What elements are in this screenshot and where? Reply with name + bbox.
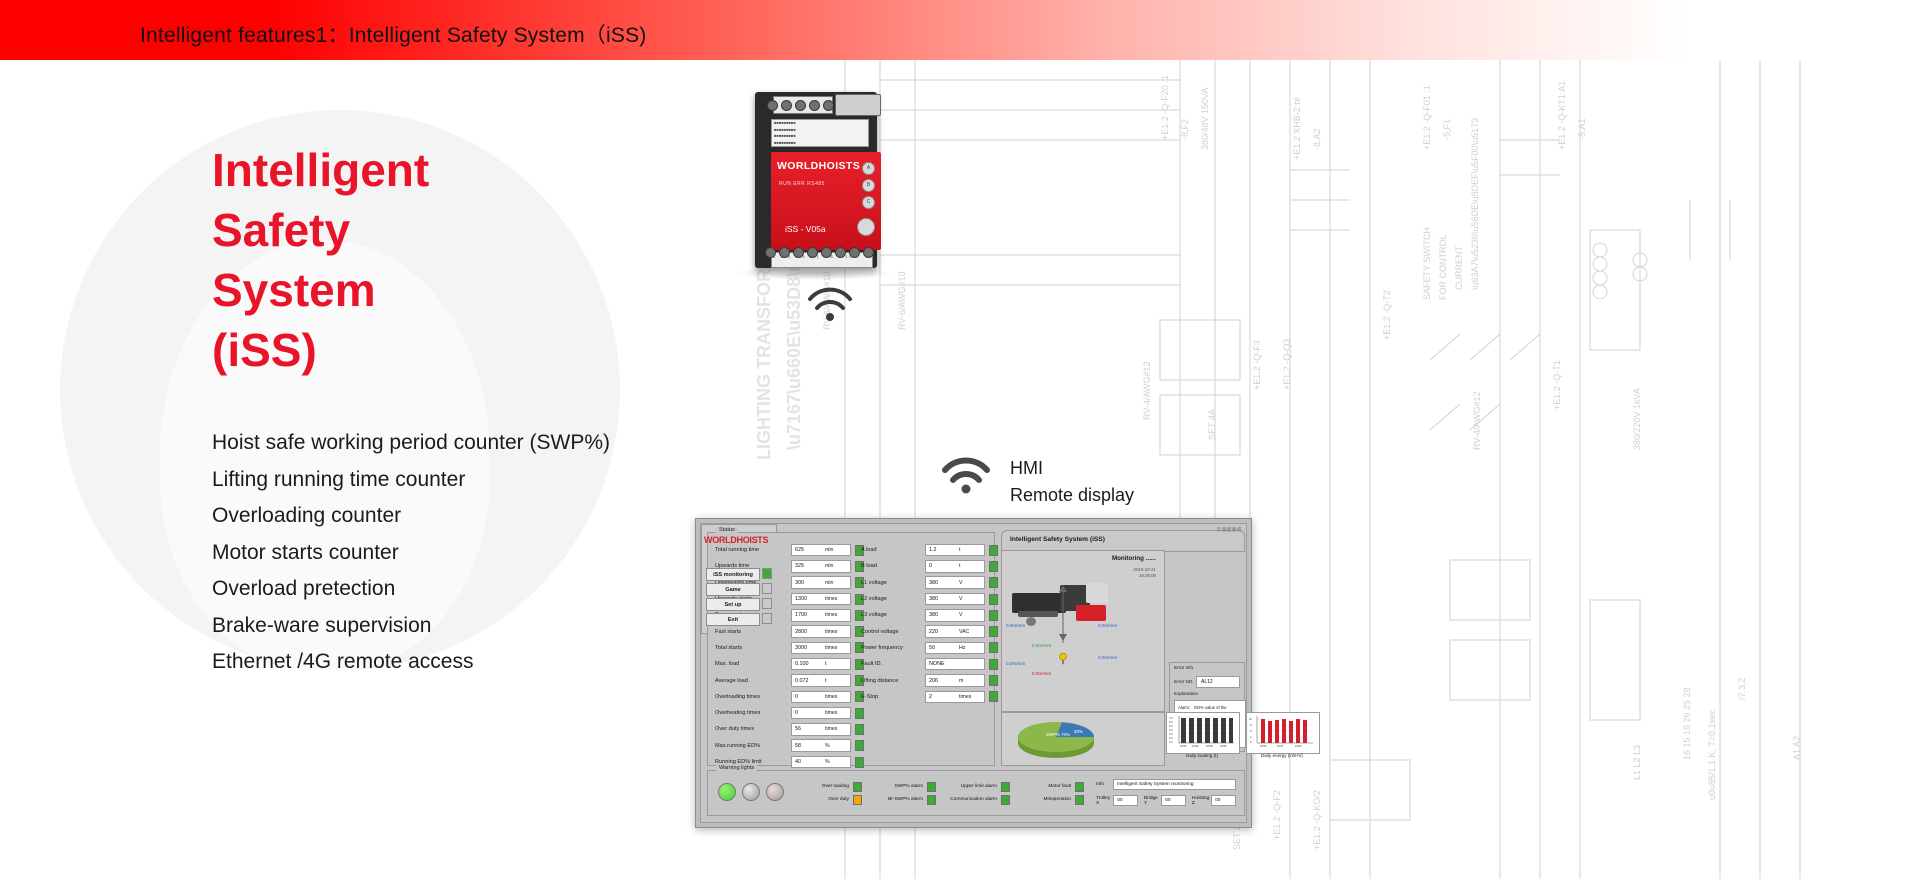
warning-indicator-led — [1001, 795, 1010, 805]
svg-text:/7.3,2: /7.3,2 — [1737, 677, 1747, 700]
monitoring-time: 18:35:06 — [1134, 573, 1156, 579]
status-row-field[interactable]: 1300times — [791, 593, 851, 606]
svg-text:10/20: 10/20 — [1295, 744, 1302, 748]
status-row-label: Fault ID. — [858, 661, 925, 667]
status-row-value: 380 — [926, 612, 959, 618]
status-row-value: 220 — [926, 629, 959, 635]
status-row-field[interactable]: 380V — [925, 576, 985, 589]
warning-indicator-led — [1075, 782, 1084, 792]
warning-indicator-label: Misoperation — [1044, 797, 1071, 802]
status-row-label: Overheating times — [712, 710, 791, 716]
svg-text:2: 2 — [1250, 740, 1252, 744]
hoisting-z-value[interactable]: 00 — [1211, 795, 1236, 806]
status-row: L2 voltage380V — [858, 591, 998, 607]
status-row-unit: % — [825, 743, 830, 749]
svg-text:L1 L2 L3: L1 L2 L3 — [1632, 745, 1642, 780]
status-row-led — [989, 545, 998, 556]
status-row-unit: times — [959, 694, 971, 700]
device-knob-b[interactable]: B — [862, 179, 875, 192]
status-right-column: A load1.2tB load0tL1 voltage380VL2 volta… — [858, 542, 998, 705]
iss-monitoring-led — [762, 568, 772, 579]
svg-text:-5,A1: -5,A1 — [1577, 118, 1587, 140]
status-row-unit: V — [959, 596, 962, 602]
hmi-window-title-tab: Intelligent Safety System (iSS) — [1001, 530, 1245, 552]
status-row-field[interactable]: 2times — [925, 691, 985, 704]
svg-text:10/14: 10/14 — [1260, 744, 1267, 748]
info-value[interactable]: Intelligent Safety System monitoring — [1113, 779, 1236, 790]
status-row: Power frequency50Hz — [858, 640, 998, 656]
svg-text:\u63A7\u5236\u56DE\u8DEF\u5F00: \u63A7\u5236\u56DE\u8DEF\u5F00\u5173 — [1470, 118, 1480, 290]
device-wifi-icon — [805, 285, 855, 323]
status-row-field[interactable]: 40% — [791, 756, 851, 769]
svg-text:10/14: 10/14 — [1180, 744, 1187, 748]
warning-indicator: Over loading — [794, 780, 868, 793]
speed-right-label: 0.0m/mm — [1098, 655, 1117, 660]
status-row: A load1.2t — [858, 542, 998, 558]
set-up-button[interactable]: Set up — [706, 598, 760, 611]
status-row-label: Lifting distance — [858, 678, 925, 684]
warning-indicator-led — [1001, 782, 1010, 792]
status-row-field[interactable]: 300min — [791, 576, 851, 589]
status-row-value: 50 — [926, 645, 959, 651]
status-row-field[interactable]: 1700times — [791, 609, 851, 622]
feature-item: Overload pretection — [212, 571, 610, 608]
status-row-led — [989, 626, 998, 637]
status-row-value: 1.2 — [926, 547, 959, 553]
warning-indicator-label: Upper limit alarm — [961, 784, 997, 789]
status-row-field[interactable]: 2800times — [791, 625, 851, 638]
svg-text:3.0: 3.0 — [1169, 732, 1173, 736]
svg-text:10/17: 10/17 — [1277, 744, 1284, 748]
status-row: Overheating times0times — [712, 705, 864, 721]
device-body: ■■■■■■■■■ ■■■■■■■■■ ■■■■■■■■■ ■■■■■■■■■ … — [755, 92, 877, 268]
status-row: Lifting distance206m — [858, 672, 998, 688]
svg-text:u0u85/1,1 K, T=0,1sec: u0u85/1,1 K, T=0,1sec — [1707, 709, 1717, 800]
status-row-unit: min — [825, 580, 833, 586]
device-spec-label: ■■■■■■■■■ ■■■■■■■■■ ■■■■■■■■■ ■■■■■■■■■ — [771, 119, 869, 147]
monitoring-title: Monitoring ...... — [1112, 555, 1156, 562]
svg-text:7.0: 7.0 — [1169, 716, 1173, 720]
status-row-value: 40 — [792, 759, 825, 765]
status-row-field[interactable]: 1.2t — [925, 544, 985, 557]
svg-text:2.0: 2.0 — [1169, 736, 1173, 740]
status-row-led — [989, 659, 998, 670]
device-brand-label: WORLDHOISTS — [777, 160, 860, 172]
hmi-wifi-icon — [940, 455, 992, 495]
svg-text:6.0: 6.0 — [1169, 720, 1173, 724]
brand-logo-part-b: ISTS — [749, 535, 768, 545]
status-row-value: 56 — [792, 726, 825, 732]
speed-up-label: 0.0m/mm — [1032, 643, 1051, 648]
warning-indicator-label: Communication alarm — [950, 797, 997, 802]
status-row-label: Power frequency — [858, 645, 925, 651]
status-row-led — [989, 610, 998, 621]
set-up-led — [762, 598, 772, 609]
headline-block: Intelligent Safety System (iSS) — [212, 140, 429, 380]
trolley-x-value[interactable]: 00 — [1113, 795, 1138, 806]
status-row-unit: min — [825, 547, 833, 553]
monitoring-panel: Monitoring ...... 2019-10-21 18:35:06 0.… — [1001, 550, 1165, 712]
status-row-led — [989, 675, 998, 686]
hmi-window-title: Intelligent Safety System (iSS) — [1010, 536, 1105, 543]
svg-text:CURRENT: CURRENT — [1454, 245, 1464, 290]
status-row-label: A load — [858, 547, 925, 553]
daily-loading-caption: Daily loading (t) — [1166, 753, 1238, 758]
svg-text:RV-4/AWG#12: RV-4/AWG#12 — [1142, 361, 1152, 420]
status-row-unit: times — [825, 629, 837, 635]
status-row-value: 625 — [792, 547, 825, 553]
status-row-value: 0 — [792, 710, 825, 716]
svg-text:380/220V 1kVA: 380/220V 1kVA — [1632, 388, 1642, 450]
device-front-face: WORLDHOISTS RUN ERR RS485 iSS - V05a A B… — [771, 152, 881, 250]
device-top-pins — [767, 100, 834, 111]
status-row-unit: t — [825, 661, 826, 667]
svg-text:4: 4 — [1250, 735, 1252, 739]
feature-item: Lifting running time counter — [212, 462, 610, 499]
daily-loading-chart-box: 7.06.05.0 4.03.02.0 1.0 10/1410/16 10/18… — [1166, 712, 1240, 754]
slide-title-bar: Intelligent features1：Intelligent Safety… — [0, 0, 1920, 60]
warning-lamp-2 — [742, 783, 760, 801]
status-row-label: Overloading times — [712, 694, 791, 700]
status-row-unit: times — [825, 612, 837, 618]
status-row-field[interactable]: 325min — [791, 560, 851, 573]
status-row-unit: VAC — [959, 629, 969, 635]
daily-energy-caption: Daily energy (kW-hr) — [1246, 753, 1318, 758]
status-row-value: 0 — [792, 694, 825, 700]
status-row-value: 0 — [926, 563, 959, 569]
hmi-caption: HMI Remote display — [1010, 455, 1134, 509]
error-number-label: Error NO. — [1174, 679, 1194, 684]
trolley-x-label: Trolley X — [1096, 796, 1111, 806]
status-row-unit: V — [959, 580, 962, 586]
status-row-value: 58 — [792, 743, 825, 749]
svg-text:+E1.2 -Q-F2: +E1.2 -Q-F2 — [1272, 790, 1282, 840]
warning-indicator-led — [853, 795, 862, 805]
warning-indicator: SWP% alarm — [868, 780, 942, 793]
svg-text:16 15 18 26 25 28: 16 15 18 26 25 28 — [1682, 687, 1692, 760]
status-row-led — [989, 561, 998, 572]
status-row-unit: times — [825, 710, 837, 716]
bridge-y-label: Bridge Y — [1144, 796, 1159, 806]
page-title: Intelligent features1：Intelligent Safety… — [140, 19, 646, 49]
motion-arrows-icon — [1050, 577, 1076, 649]
status-row-label: L3 voltage — [858, 612, 925, 618]
status-row-unit: Hz — [959, 645, 965, 651]
status-row-unit: min — [825, 563, 833, 569]
bar-charts-row: 7.06.05.0 4.03.02.0 1.0 10/1410/16 10/18… — [1001, 712, 1243, 770]
svg-text:10: 10 — [1249, 717, 1252, 721]
svg-text:5.0: 5.0 — [1169, 724, 1173, 728]
hmi-field-group: Info Intelligent Safety System monitorin… — [1096, 779, 1236, 806]
status-row-value: 380 — [926, 596, 959, 602]
status-row-label: Fast starts — [712, 629, 791, 635]
bridge-y-value[interactable]: 00 — [1161, 795, 1186, 806]
svg-text:380/48V 150VA: 380/48V 150VA — [1200, 88, 1210, 150]
svg-text:+E1.2 -Q-KO/2: +E1.2 -Q-KO/2 — [1312, 790, 1322, 850]
warning-indicator-grid: Over loadingSWP% alarmUpper limit alarmM… — [794, 780, 1090, 806]
error-info-title: Error Info — [1174, 665, 1193, 670]
status-row-unit: t — [959, 547, 960, 553]
status-row: B load0t — [858, 558, 998, 574]
status-row: Over duty times56times — [712, 721, 864, 737]
speed-left2-label: 0.0m/mm — [1006, 623, 1025, 628]
warning-indicator-label: Over loading — [822, 784, 849, 789]
feature-item: Motor starts counter — [212, 535, 610, 572]
warning-indicator-led — [1075, 795, 1084, 805]
status-row-field[interactable]: 3000times — [791, 642, 851, 655]
headline-line-1: Intelligent — [212, 140, 429, 200]
status-row-led — [989, 691, 998, 702]
speed-down-label: 0.0m/mm — [1032, 671, 1051, 676]
status-row-unit: times — [825, 694, 837, 700]
warning-indicator: Misoperation — [1016, 793, 1090, 806]
status-row-value: 1300 — [792, 596, 825, 602]
status-row: Total starts3000times — [712, 640, 864, 656]
warning-indicator-list: Over loadingSWP% alarmUpper limit alarmM… — [794, 780, 1090, 806]
warning-lights-group: Warning lights Over loadingSWP% alarmUpp… — [707, 770, 1245, 816]
warning-indicator: Over duty — [794, 793, 868, 806]
daily-energy-chart-box: 1086 42 10/1410/1710/20 — [1246, 712, 1320, 754]
svg-text:+E1.2 -Q-KT1:A1: +E1.2 -Q-KT1:A1 — [1557, 81, 1567, 150]
status-row-field[interactable]: 0.100t — [791, 658, 851, 671]
hmi-screen[interactable]: Status Total running time625minUpwards t… — [695, 518, 1252, 828]
status-row-unit: times — [825, 645, 837, 651]
feature-item: Hoist safe working period counter (SWP%) — [212, 425, 610, 462]
svg-text:+E1.2 -Q-F01 :1: +E1.2 -Q-F01 :1 — [1422, 85, 1432, 150]
svg-text:10/20: 10/20 — [1220, 744, 1227, 748]
status-row-led — [989, 577, 998, 588]
hmi-screen-inner: Status Total running time625minUpwards t… — [700, 523, 1247, 823]
svg-text:+E1.2 -Q-Q3: +E1.2 -Q-Q3 — [1282, 339, 1292, 390]
status-row-unit: m — [959, 678, 963, 684]
status-row-unit: t — [825, 678, 826, 684]
status-row: Fault ID.NONE — [858, 656, 998, 672]
status-row-value: 0.072 — [792, 678, 825, 684]
status-row-unit: t — [959, 563, 960, 569]
exit-led — [762, 613, 772, 624]
status-row-label: Max.running ED% — [712, 743, 791, 749]
status-row-led — [855, 757, 864, 768]
headline-line-3: System — [212, 260, 429, 320]
status-row-unit: times — [825, 726, 837, 732]
status-row-field[interactable]: 50Hz — [925, 642, 985, 655]
status-row-field[interactable]: 625min — [791, 544, 851, 557]
status-row: Overloading times0times — [712, 689, 864, 705]
status-row-value: 325 — [792, 563, 825, 569]
device-dial[interactable] — [857, 218, 875, 236]
svg-text:SET 4A: SET 4A — [1207, 409, 1217, 440]
status-row-led — [989, 642, 998, 653]
svg-text:+E1.2 -Q-F3: +E1.2 -Q-F3 — [1252, 340, 1262, 390]
svg-text:10/18: 10/18 — [1206, 744, 1213, 748]
status-row-field[interactable]: 380V — [925, 593, 985, 606]
status-row-value: 2800 — [792, 629, 825, 635]
status-row-unit: % — [825, 759, 830, 765]
warning-indicator-label: Br-SWP% alarm — [888, 797, 923, 802]
device-top-connector — [835, 94, 881, 116]
status-row-led — [855, 708, 864, 719]
device-model-label: iSS - V05a — [785, 224, 826, 234]
warning-indicator: Upper limit alarm — [942, 780, 1016, 793]
device-knob-a[interactable]: A — [862, 162, 875, 175]
warning-lamps — [718, 783, 784, 801]
status-row-value: NONE — [926, 661, 959, 667]
status-row-led — [855, 740, 864, 751]
status-row-field[interactable]: 56times — [791, 723, 851, 736]
status-row-field[interactable]: NONE — [925, 658, 985, 671]
iss-device-photo: ■■■■■■■■■ ■■■■■■■■■ ■■■■■■■■■ ■■■■■■■■■ … — [745, 70, 890, 290]
brand-logo-text: WORLDHOISTS — [704, 535, 768, 545]
explanation-label: Explanation — [1174, 691, 1198, 696]
status-row-value: 3000 — [792, 645, 825, 651]
brand-logo-part-a: WORLDHO — [704, 535, 749, 545]
status-row-field[interactable]: 0.072t — [791, 674, 851, 687]
iss-monitoring-button[interactable]: iSS monitoring — [706, 568, 760, 581]
warning-indicator-led — [853, 782, 862, 792]
status-row-label: E-Stop — [858, 694, 925, 700]
status-row-label: Max. load — [712, 661, 791, 667]
svg-text:+E1.2 -Q-F20 :1: +E1.2 -Q-F20 :1 — [1160, 75, 1170, 140]
status-row-field[interactable]: 380V — [925, 609, 985, 622]
device-knob-c[interactable]: C — [862, 196, 875, 209]
warning-indicator: Communication alarm — [942, 793, 1016, 806]
daily-loading-chart: 7.06.05.0 4.03.02.0 1.0 10/1410/16 10/18… — [1167, 713, 1237, 751]
warning-indicator: Br-SWP% alarm — [868, 793, 942, 806]
brand-chinese-label: 华道起重机 — [1217, 527, 1242, 533]
feature-item: Ethernet /4G remote access — [212, 644, 610, 681]
game-led — [762, 583, 772, 594]
status-row-field[interactable]: 58% — [791, 739, 851, 752]
status-row-label: B load — [858, 563, 925, 569]
svg-text:-5,F1: -5,F1 — [1442, 119, 1452, 140]
status-row: Control voltage220VAC — [858, 623, 998, 639]
hook-indicator-icon — [1056, 651, 1070, 665]
svg-text:+E1.2 XHB-2:bl: +E1.2 XHB-2:bl — [1292, 98, 1302, 160]
device-shadow — [735, 266, 895, 280]
status-row-value: 300 — [792, 580, 825, 586]
monitoring-timestamp: 2019-10-21 18:35:06 — [1134, 567, 1156, 579]
svg-text:8: 8 — [1250, 723, 1252, 727]
status-row-unit: times — [825, 596, 837, 602]
warning-lights-title: Warning lights — [716, 765, 757, 771]
status-row-label: Control voltage — [858, 629, 925, 635]
status-row-label: Total running time — [712, 547, 791, 553]
warning-indicator: Motor fault — [1016, 780, 1090, 793]
svg-text:+E1.2 -Q-T1: +E1.2 -Q-T1 — [1552, 360, 1562, 410]
speed-left-label: 0.0m/mm — [1006, 661, 1025, 666]
status-row-led — [989, 594, 998, 605]
svg-text:-8,F2: -8,F2 — [1180, 119, 1190, 140]
svg-text:4.0: 4.0 — [1169, 728, 1173, 732]
feature-list: Hoist safe working period counter (SWP%)… — [212, 425, 610, 681]
status-row-label: L1 voltage — [858, 580, 925, 586]
svg-text:10/16: 10/16 — [1192, 744, 1199, 748]
game-button[interactable]: Game — [706, 583, 760, 596]
status-row-value: 2 — [926, 694, 959, 700]
status-row-value: 380 — [926, 580, 959, 586]
warning-indicator-led — [927, 795, 936, 805]
status-left-column: Total running time625minUpwards time325m… — [712, 542, 864, 803]
status-row: L1 voltage380V — [858, 575, 998, 591]
svg-text:SAFETY SWITCH: SAFETY SWITCH — [1422, 227, 1432, 300]
error-number-value[interactable]: AL12 — [1196, 676, 1240, 688]
hmi-caption-line-2: Remote display — [1010, 482, 1134, 509]
warning-indicator-label: Motor fault — [1048, 784, 1071, 789]
status-row-value: 206 — [926, 678, 959, 684]
status-row-label: Total starts — [712, 645, 791, 651]
status-row: Average load0.072t — [712, 672, 864, 688]
feature-item: Brake-ware supervision — [212, 608, 610, 645]
speed-right2-label: 0.0m/mm — [1098, 623, 1117, 628]
status-row-field[interactable]: 0times — [791, 707, 851, 720]
status-row-field[interactable]: 0t — [925, 560, 985, 573]
info-label: Info — [1096, 782, 1110, 787]
status-row-unit: V — [959, 612, 962, 618]
warning-indicator-led — [927, 782, 936, 792]
device-bottom-pins — [765, 247, 874, 258]
status-row-field[interactable]: 206m — [925, 674, 985, 687]
warning-lamp-1 — [718, 783, 736, 801]
status-row-label: L2 voltage — [858, 596, 925, 602]
svg-text:RV-6/AWG#10: RV-6/AWG#10 — [897, 271, 907, 330]
device-led-legend: RUN ERR RS485 — [779, 181, 825, 187]
svg-text:FOR CONTROL: FOR CONTROL — [1438, 234, 1448, 300]
status-row: L3 voltage380V — [858, 607, 998, 623]
hoisting-z-label: Hoisting Z — [1192, 796, 1209, 806]
warning-indicator-label: SWP% alarm — [894, 784, 923, 789]
svg-text:6: 6 — [1250, 729, 1252, 733]
status-row: Max.running ED%58% — [712, 738, 864, 754]
status-row-label: Average load — [712, 678, 791, 684]
svg-text:1.0: 1.0 — [1169, 740, 1173, 744]
status-row-label: Over duty times — [712, 726, 791, 732]
status-row-value: 0.100 — [792, 661, 825, 667]
daily-energy-chart: 1086 42 10/1410/1710/20 — [1247, 713, 1317, 751]
status-group-title: Status — [716, 527, 738, 533]
svg-text:-8,A2: -8,A2 — [1312, 128, 1322, 150]
headline-line-2: Safety — [212, 200, 429, 260]
hmi-caption-line-1: HMI — [1010, 455, 1134, 482]
status-row-field[interactable]: 0times — [791, 691, 851, 704]
status-row-field[interactable]: 220VAC — [925, 625, 985, 638]
status-row: E-Stop2times — [858, 689, 998, 705]
warning-lamp-3 — [766, 783, 784, 801]
status-row: Max. load0.100t — [712, 656, 864, 672]
warning-indicator-label: Over duty — [828, 797, 849, 802]
feature-item: Overloading counter — [212, 498, 610, 535]
status-row-led — [855, 724, 864, 735]
headline-line-4: (iSS) — [212, 320, 429, 380]
svg-text:A1 A2: A1 A2 — [1792, 736, 1802, 760]
svg-text:+E1.2 -Q-T2: +E1.2 -Q-T2 — [1382, 290, 1392, 340]
exit-button[interactable]: Exit — [706, 613, 760, 626]
status-row-value: 1700 — [792, 612, 825, 618]
svg-text:RV-4/AWG#12: RV-4/AWG#12 — [1472, 391, 1482, 450]
